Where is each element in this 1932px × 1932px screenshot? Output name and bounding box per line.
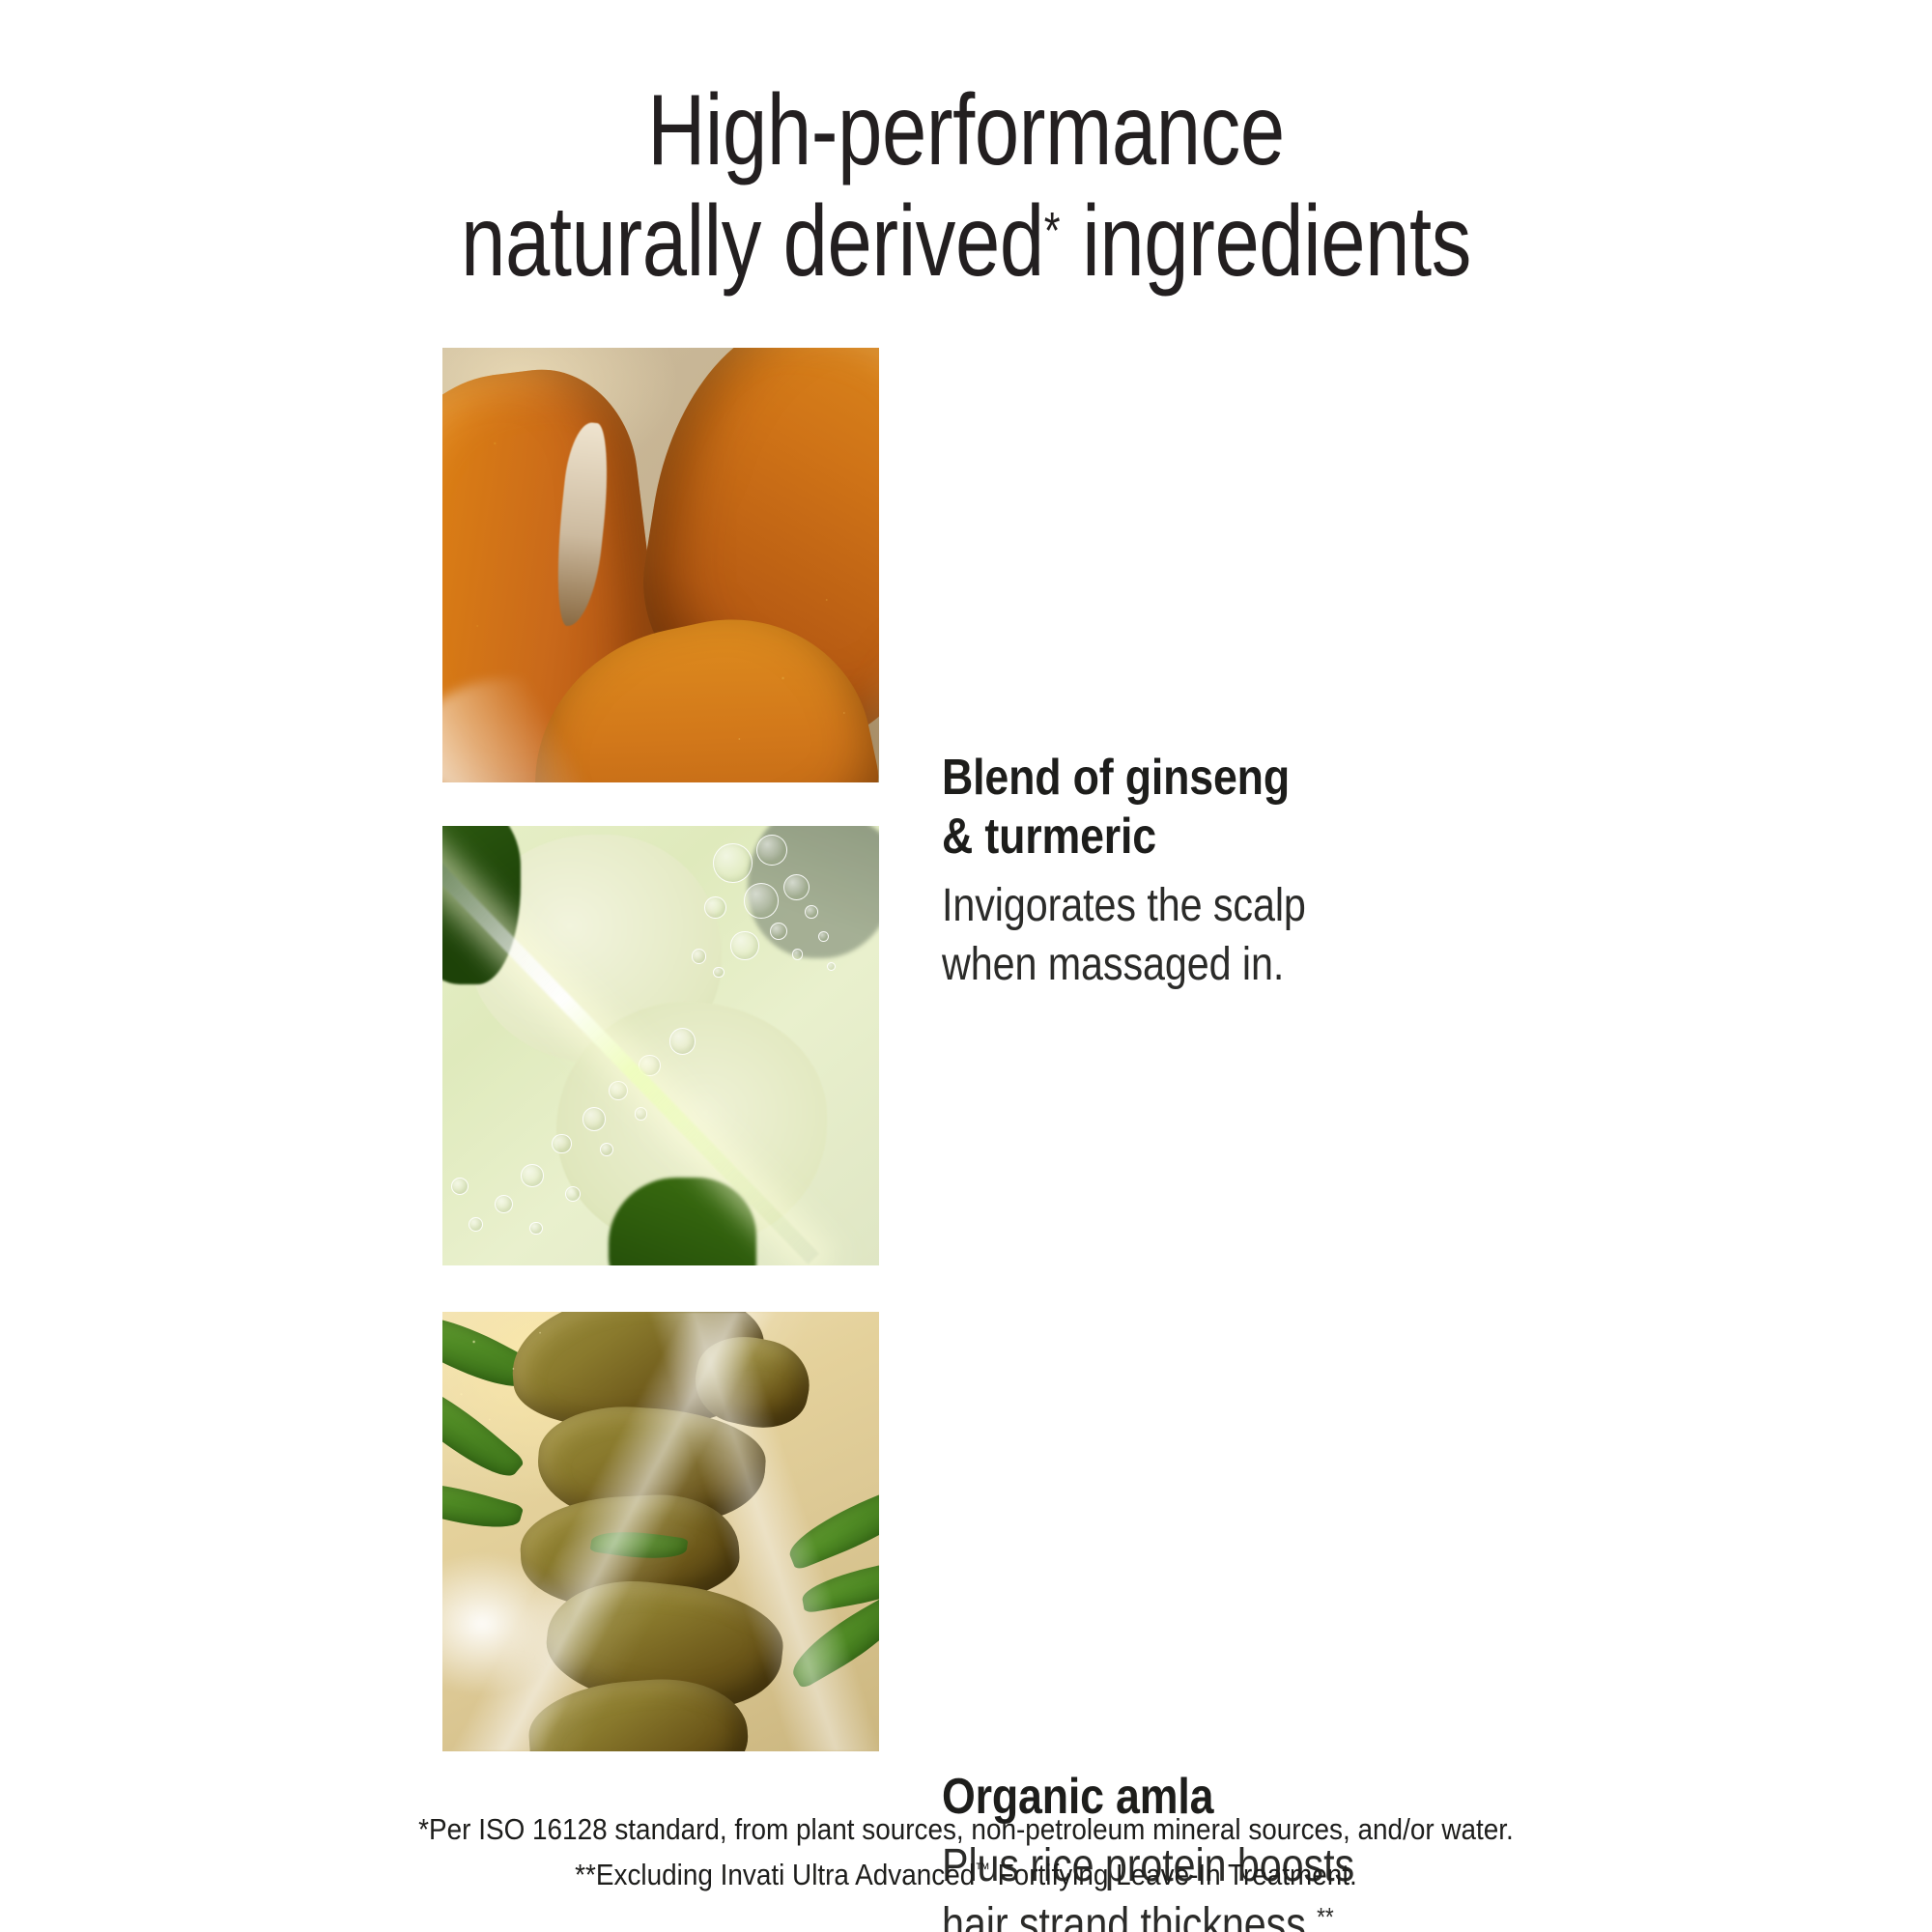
ingredient-image-amla bbox=[442, 826, 879, 1265]
footnote-line-2: **Excluding Invati Ultra Advanced™ Forti… bbox=[97, 1852, 1835, 1897]
ingredient-row-amla: Organic amla Plus rice protein boosts ha… bbox=[0, 826, 1932, 1265]
ingredient-list: Blend of ginseng & turmeric Invigorates … bbox=[0, 0, 1932, 1932]
ingredient-image-ginseng bbox=[442, 1312, 879, 1751]
trademark-icon: ™ bbox=[975, 1859, 990, 1878]
ingredient-row-turmeric: Blend of ginseng & turmeric Invigorates … bbox=[0, 348, 1932, 782]
footnote-line-2-text: **Excluding Invati Ultra Advanced bbox=[575, 1858, 975, 1891]
footnote-line-2-tail: Fortifying Leave-In Treatment. bbox=[990, 1858, 1357, 1891]
ingredient-row-ginseng: Follicle vitality complex Creates a heal… bbox=[0, 1312, 1932, 1751]
bubble-cluster-icon bbox=[442, 826, 879, 1265]
footnote-marker-double-asterisk: ** bbox=[1317, 1903, 1333, 1932]
ingredients-infographic: High-performance naturally derived* ingr… bbox=[0, 0, 1932, 1932]
footnote-line-1: *Per ISO 16128 standard, from plant sour… bbox=[97, 1806, 1835, 1852]
ingredient-image-turmeric bbox=[442, 348, 879, 782]
footnotes: *Per ISO 16128 standard, from plant sour… bbox=[0, 1806, 1932, 1897]
